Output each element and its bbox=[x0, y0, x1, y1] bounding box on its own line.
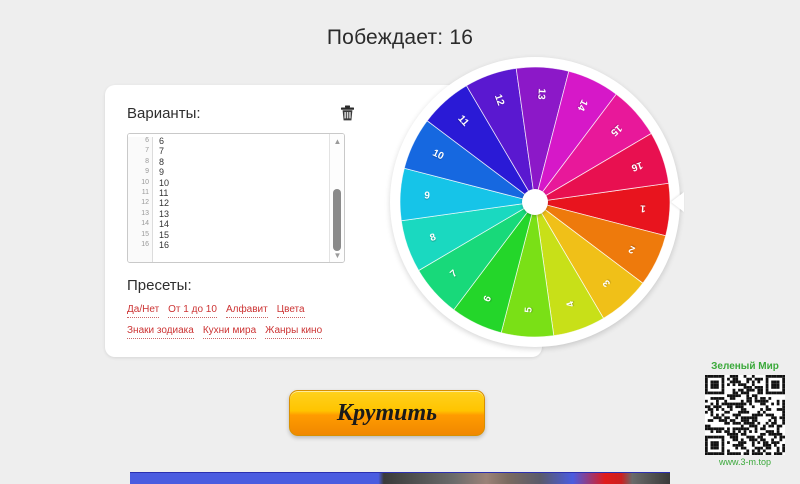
list-item: 13 bbox=[159, 209, 344, 219]
trash-icon-glyph bbox=[340, 105, 355, 121]
gutter-number: 16 bbox=[128, 240, 152, 250]
variants-label: Варианты: bbox=[127, 105, 201, 122]
gutter-number: 10 bbox=[128, 178, 152, 188]
spin-button[interactable]: Крутить bbox=[289, 390, 485, 436]
gutter-number: 6 bbox=[128, 136, 152, 146]
preset-link-1-to-10[interactable]: От 1 до 10 bbox=[168, 303, 217, 318]
gutter-number: 14 bbox=[128, 219, 152, 229]
preset-link-alphabet[interactable]: Алфавит bbox=[226, 303, 268, 318]
list-top-clip bbox=[128, 134, 344, 137]
trash-icon[interactable] bbox=[337, 103, 357, 123]
preset-row-1: Да/Нет От 1 до 10 Алфавит Цвета bbox=[127, 303, 357, 318]
scrollbar-thumb[interactable] bbox=[333, 189, 341, 251]
list-item: 9 bbox=[159, 167, 344, 177]
gutter-number: 12 bbox=[128, 198, 152, 208]
preset-link-zodiac[interactable]: Знаки зодиака bbox=[127, 324, 194, 339]
preset-row-2: Знаки зодиака Кухни мира Жанры кино bbox=[127, 324, 357, 339]
list-item: 10 bbox=[159, 178, 344, 188]
variants-textarea[interactable]: 6 7 8 9 10 11 12 13 14 15 16 6 7 8 9 10 … bbox=[127, 133, 345, 263]
list-item: 15 bbox=[159, 230, 344, 240]
wheel-hub[interactable] bbox=[522, 189, 548, 215]
qr-widget[interactable]: Зеленый Мир www.3-m.top bbox=[697, 360, 793, 476]
scroll-down-icon[interactable]: ▼ bbox=[330, 248, 345, 262]
gutter-number: 11 bbox=[128, 188, 152, 198]
page-title: Побеждает: 16 bbox=[0, 26, 800, 50]
scroll-up-icon[interactable]: ▲ bbox=[330, 134, 345, 148]
wheel-pointer-icon bbox=[671, 192, 684, 212]
qr-code-image bbox=[705, 375, 785, 455]
list-item: 12 bbox=[159, 198, 344, 208]
preset-link-cuisines[interactable]: Кухни мира bbox=[203, 324, 256, 339]
list-item: 14 bbox=[159, 219, 344, 229]
list-item: 8 bbox=[159, 157, 344, 167]
gutter-number: 15 bbox=[128, 230, 152, 240]
variants-header: Варианты: bbox=[127, 103, 357, 123]
qr-url: www.3-m.top bbox=[697, 456, 793, 469]
gutter-number: 9 bbox=[128, 167, 152, 177]
preset-link-movie-genres[interactable]: Жанры кино bbox=[265, 324, 322, 339]
list-item: 16 bbox=[159, 240, 344, 250]
variants-lines: 6 7 8 9 10 11 12 13 14 15 16 bbox=[153, 134, 344, 262]
bottom-content-strip[interactable] bbox=[130, 472, 670, 484]
preset-link-colors[interactable]: Цвета bbox=[277, 303, 305, 318]
line-number-gutter: 6 7 8 9 10 11 12 13 14 15 16 bbox=[128, 134, 153, 262]
spin-wheel[interactable]: 12345678910111213141516 bbox=[390, 57, 680, 347]
qr-svg bbox=[705, 375, 785, 455]
qr-title: Зеленый Мир bbox=[697, 360, 793, 373]
gutter-number: 7 bbox=[128, 146, 152, 156]
list-scrollbar[interactable]: ▲ ▼ bbox=[329, 134, 344, 262]
gutter-number: 8 bbox=[128, 157, 152, 167]
preset-link-yes-no[interactable]: Да/Нет bbox=[127, 303, 159, 318]
list-item: 11 bbox=[159, 188, 344, 198]
gutter-number: 13 bbox=[128, 209, 152, 219]
list-item: 6 bbox=[159, 136, 344, 146]
list-item: 7 bbox=[159, 146, 344, 156]
